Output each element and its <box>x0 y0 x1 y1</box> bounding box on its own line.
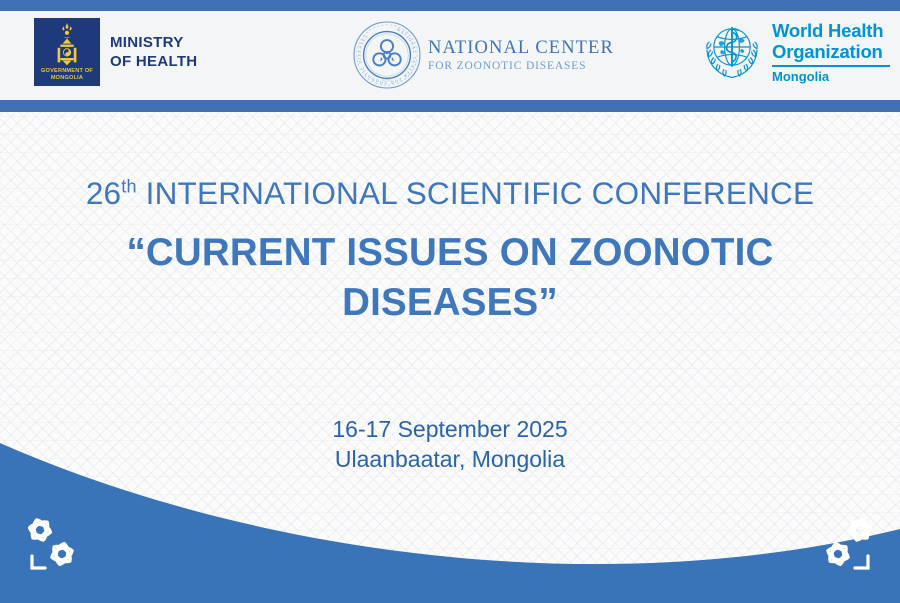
who-name-line2: Organization <box>772 41 890 62</box>
ministry-of-health-name: MINISTRY OF HEALTH <box>110 33 197 71</box>
title-block: 26th INTERNATIONAL SCIENTIFIC CONFERENCE… <box>0 112 900 474</box>
who-name: World Health Organization Mongolia <box>772 20 890 84</box>
conference-title-slide: GOVERNMENT OF MONGOLIA MINISTRY OF HEALT… <box>0 0 900 603</box>
nczd-name: NATIONAL CENTER FOR ZOONOTIC DISEASES <box>428 38 614 73</box>
nczd-name-line2: FOR ZOONOTIC DISEASES <box>428 59 614 73</box>
flag-caption-line2: MONGOLIA <box>34 75 100 82</box>
top-accent-bar <box>0 0 900 11</box>
who-country-label: Mongolia <box>772 69 890 84</box>
soyombo-symbol-icon <box>51 22 83 70</box>
conference-location: Ulaanbaatar, Mongolia <box>0 444 900 474</box>
triquetra-knot-ornament-icon <box>808 510 882 576</box>
flag-caption-line1: GOVERNMENT OF <box>34 68 100 75</box>
logo-ministry-of-health: GOVERNMENT OF MONGOLIA MINISTRY OF HEALT… <box>34 18 197 86</box>
nczd-name-line1: NATIONAL CENTER <box>428 38 614 59</box>
who-name-line1: World Health <box>772 20 890 41</box>
logo-world-health-organization: World Health Organization Mongolia <box>700 20 890 84</box>
conference-heading: 26th INTERNATIONAL SCIENTIFIC CONFERENCE <box>0 174 900 212</box>
triquetra-knot-ornament-icon <box>18 510 92 576</box>
ordinal-suffix: th <box>121 177 136 197</box>
conference-dates: 16-17 September 2025 <box>0 414 900 444</box>
header-divider-bar <box>0 100 900 112</box>
moh-name-line1: MINISTRY <box>110 33 197 52</box>
biohazard-seal-icon: NATIONAL CENTER FOR ZOONOTIC DISEASES 19… <box>352 20 422 90</box>
moh-name-line2: OF HEALTH <box>110 52 197 71</box>
logo-national-center-zoonotic-diseases: NATIONAL CENTER FOR ZOONOTIC DISEASES 19… <box>352 20 614 90</box>
flag-caption: GOVERNMENT OF MONGOLIA <box>34 68 100 82</box>
conference-number: 26 <box>86 175 121 211</box>
mongolia-soyombo-flag-icon: GOVERNMENT OF MONGOLIA <box>34 18 100 86</box>
who-underline-rule <box>772 65 890 67</box>
who-laurel-globe-asclepius-icon <box>700 20 764 84</box>
conference-heading-rest: INTERNATIONAL SCIENTIFIC CONFERENCE <box>137 175 815 211</box>
conference-theme: “CURRENT ISSUES ON ZOONOTIC DISEASES” <box>0 228 900 328</box>
conference-meta: 16-17 September 2025 Ulaanbaatar, Mongol… <box>0 414 900 474</box>
seal-year: 1931 <box>382 77 392 82</box>
